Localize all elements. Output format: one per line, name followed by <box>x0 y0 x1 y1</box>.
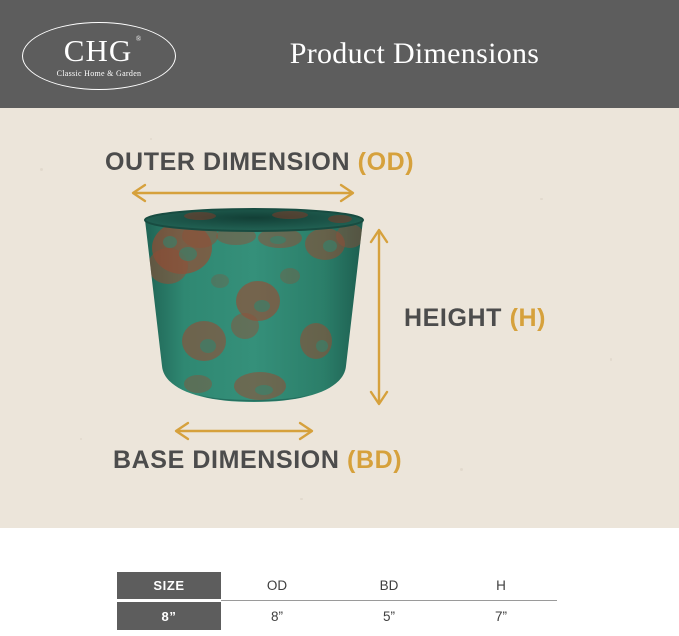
table-cell-bd-value: 5” <box>333 602 445 630</box>
outer-dimension-text: OUTER DIMENSION <box>105 148 350 176</box>
texture-speck <box>150 138 152 140</box>
planter-pot-illustration <box>140 206 368 414</box>
page-title: Product Dimensions <box>0 0 679 108</box>
height-abbr: (H) <box>510 304 547 332</box>
table-cell-od-value: 8” <box>221 602 333 630</box>
base-dimension-text: BASE DIMENSION <box>113 446 339 474</box>
outer-dimension-label: OUTER DIMENSION (OD) <box>105 148 414 177</box>
texture-speck <box>80 438 82 440</box>
header-bar: CHG® Classic Home & Garden Product Dimen… <box>0 0 679 108</box>
height-text: HEIGHT <box>404 304 502 332</box>
table-header-h: H <box>445 572 557 599</box>
table-divider <box>221 600 557 601</box>
base-dimension-abbr: (BD) <box>347 446 402 474</box>
product-dimensions-infographic: CHG® Classic Home & Garden Product Dimen… <box>0 0 679 636</box>
height-arrow-icon <box>366 222 392 412</box>
table-header-size: SIZE <box>117 572 221 599</box>
texture-speck <box>540 198 543 200</box>
table-header-od: OD <box>221 572 333 599</box>
base-dimension-arrow-icon <box>168 418 320 444</box>
planter-pot-image <box>140 206 368 414</box>
base-dimension-label: BASE DIMENSION (BD) <box>113 446 402 475</box>
table-cell-h-value: 7” <box>445 602 557 630</box>
outer-dimension-abbr: (OD) <box>358 148 415 176</box>
table-header-bd: BD <box>333 572 445 599</box>
texture-speck <box>40 168 43 171</box>
height-label: HEIGHT (H) <box>404 304 546 333</box>
texture-speck <box>300 498 303 500</box>
table-cell-size-value: 8” <box>117 602 221 630</box>
outer-dimension-arrow-icon <box>125 180 361 206</box>
dimensions-table: SIZE 8” OD BD H 8” 5” 7” <box>117 572 557 632</box>
texture-speck <box>460 468 463 471</box>
texture-speck <box>610 358 612 361</box>
